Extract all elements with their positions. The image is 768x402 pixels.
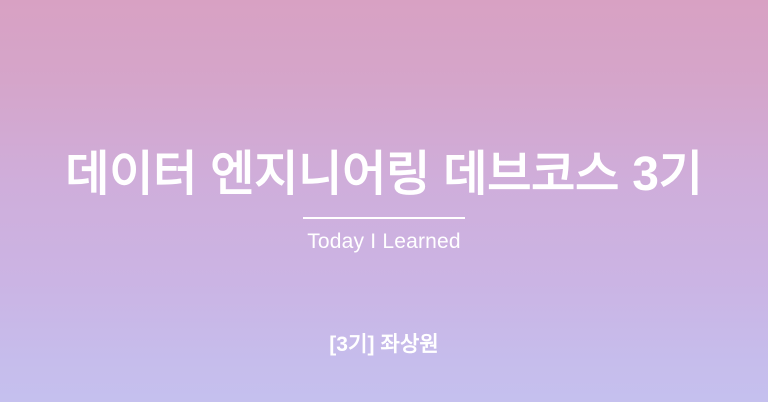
banner-title-row: 데이터 엔지니어링 데브코스 3기 (0, 147, 768, 202)
page-title: 데이터 엔지니어링 데브코스 3기 (65, 147, 702, 202)
author-label: [3기] 좌상원 (329, 332, 439, 357)
banner-root: 데이터 엔지니어링 데브코스 3기 Today I Learned [3기] 좌… (0, 0, 768, 402)
title-divider (303, 217, 465, 219)
banner-author-row: [3기] 좌상원 (0, 332, 768, 357)
banner-subtitle-row: Today I Learned (0, 229, 768, 254)
page-subtitle: Today I Learned (307, 229, 461, 254)
banner-divider-row (0, 217, 768, 219)
